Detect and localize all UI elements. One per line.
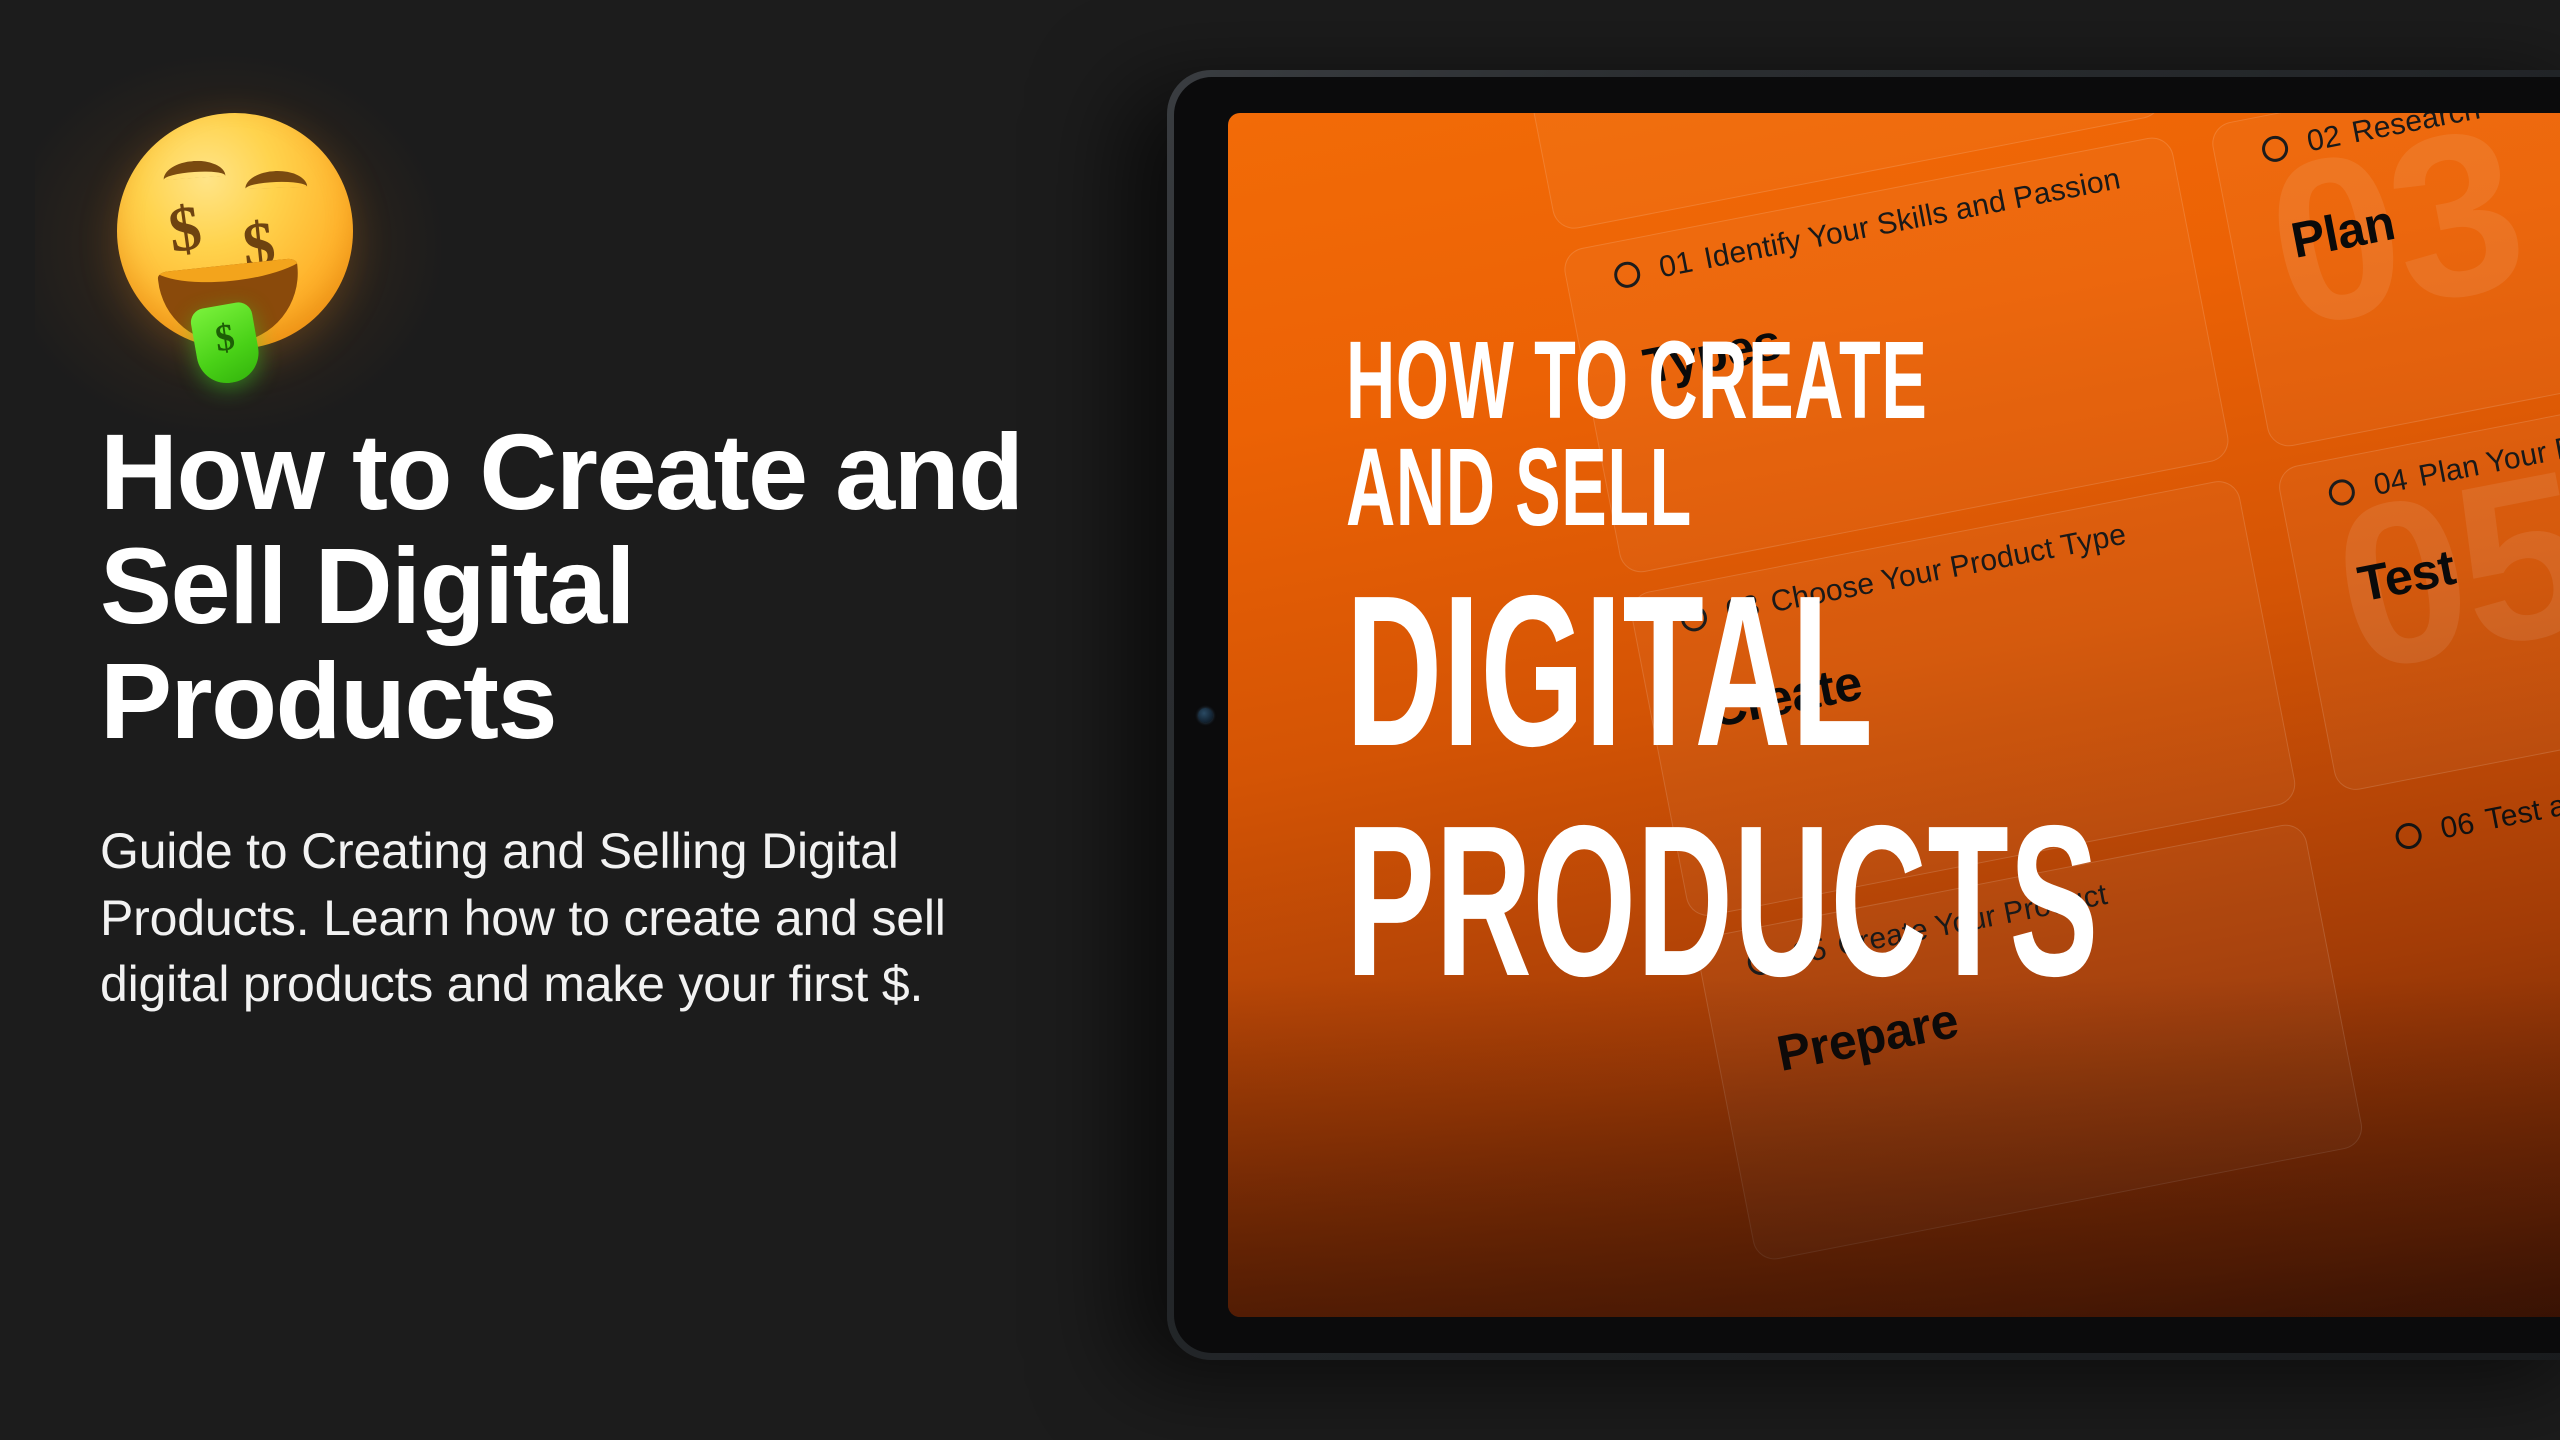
emoji-dollar-bill-tongue: $ <box>189 300 264 388</box>
emoji-dollar-eye-left: $ <box>165 195 206 263</box>
emoji-eyebrow-left <box>162 159 225 180</box>
tablet-bezel: Skills and Passion 01 01Identify Your Sk… <box>1174 77 2560 1353</box>
screen-headline: How to Create and Sell Digital Products <box>1346 328 2099 1001</box>
screen-headline-line-4: Products <box>1346 801 2099 1001</box>
emoji-face-shape: $ $ $ <box>117 113 353 349</box>
left-content-panel: $ $ $ How to Create and Sell Digital Pro… <box>0 0 1180 1440</box>
page-title: How to Create and Sell Digital Products <box>100 415 1100 758</box>
front-camera-icon <box>1198 708 1213 723</box>
screen-headline-line-2: and Sell <box>1346 435 2099 542</box>
page-description: Guide to Creating and Selling Digital Pr… <box>100 818 960 1018</box>
money-mouth-face-emoji: $ $ $ <box>105 95 375 365</box>
tablet-device-mockup: Skills and Passion 01 01Identify Your Sk… <box>1167 70 2560 1360</box>
emoji-eyebrow-right <box>245 170 308 189</box>
screen-headline-line-1: How to Create <box>1346 328 2099 435</box>
tablet-screen: Skills and Passion 01 01Identify Your Sk… <box>1228 113 2560 1317</box>
screen-headline-line-3: Digital <box>1346 571 2099 771</box>
step-card[interactable] <box>2209 113 2560 450</box>
step-checkbox-circle-icon[interactable] <box>2393 821 2423 851</box>
emoji-bill-dollar-sign: $ <box>212 315 237 361</box>
